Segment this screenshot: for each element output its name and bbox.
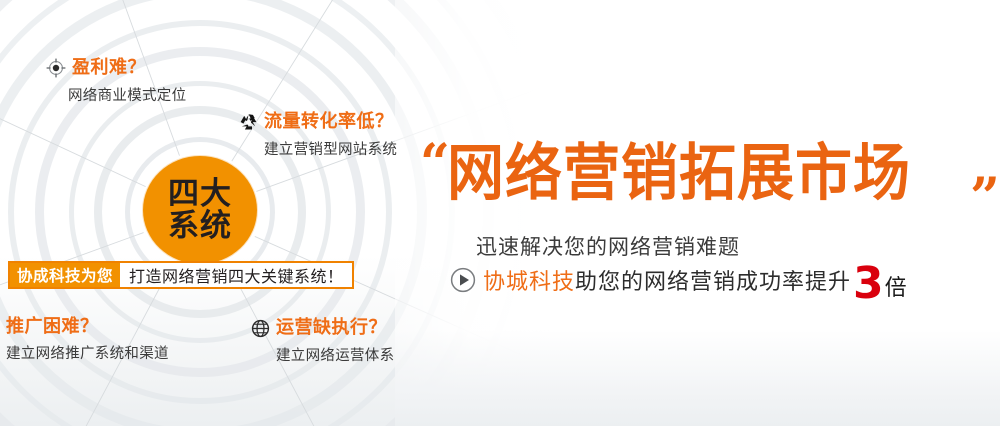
feature-item-promotion-title: 推广困难？ [6,318,99,336]
multiplier-unit: 倍 [885,270,907,302]
subheadline-secondary: 协城科技 助您的网络营销成功率提升 3 倍 [450,262,907,297]
multiplier-number: 3 [853,266,884,301]
feature-item-traffic[interactable]: 流量转化率低？ 建立营销型网站系统 [238,112,397,159]
feature-item-traffic-subtitle: 建立营销型网站系统 [264,138,397,159]
success-rate-text: 助您的网络营销成功率提升 [575,264,851,296]
feature-item-promotion-subtitle: 建立网络推广系统和渠道 [6,342,169,363]
quote-close-mark: ” [970,172,1000,224]
feature-item-operations[interactable]: 运营缺执行？ 建立网络运营体系 [250,318,394,365]
feature-item-profit-title: 盈利难？ [72,59,146,77]
feature-item-profit[interactable]: 盈利难？ 网络商业模式定位 [46,58,186,105]
quote-open-mark: “ [420,138,450,190]
core-circle-line1: 四大 [168,179,232,209]
crosshair-icon [46,58,66,78]
tagline-message-label: 打造网络营销四大关键系统！ [120,263,352,287]
feature-item-operations-subtitle: 建立网络运营体系 [276,344,394,365]
tagline-bar: 协成科技为您 打造网络营销四大关键系统！ [8,261,354,289]
tagline-brand-label: 协成科技为您 [10,263,120,287]
core-circle-line2: 系统 [168,211,232,241]
play-circle-icon[interactable] [450,267,476,293]
brand-name-label: 协城科技 [483,264,575,296]
subheadline-primary: 迅速解决您的网络营销难题 [476,231,740,261]
feature-item-promotion[interactable]: 推广困难？ 建立网络推广系统和渠道 [6,318,169,363]
core-circle-badge: 四大 系统 [143,156,257,264]
feature-item-traffic-title: 流量转化率低？ [264,113,394,131]
right-message-pane: “ 网络营销拓展市场 ” 迅速解决您的网络营销难题 协城科技 助您的网络营销成功… [420,0,1000,426]
left-diagram-pane: 盈利难？ 网络商业模式定位 流量转化率低？ 建立营销型网站系统 [0,0,430,426]
feature-item-profit-head: 盈利难？ [46,58,186,78]
feature-item-operations-head: 运营缺执行？ [250,318,394,338]
feature-item-profit-subtitle: 网络商业模式定位 [68,84,186,105]
feature-item-traffic-head: 流量转化率低？ [238,112,397,132]
recycle-icon [238,112,258,132]
headline-block: “ 网络营销拓展市场 ” [420,142,1000,224]
page-title: 网络营销拓展市场 [447,142,911,205]
feature-item-promotion-head: 推广困难？ [6,318,169,336]
feature-item-operations-title: 运营缺执行？ [276,319,387,337]
globe-icon [250,318,270,338]
promo-banner: 盈利难？ 网络商业模式定位 流量转化率低？ 建立营销型网站系统 [0,0,1000,426]
